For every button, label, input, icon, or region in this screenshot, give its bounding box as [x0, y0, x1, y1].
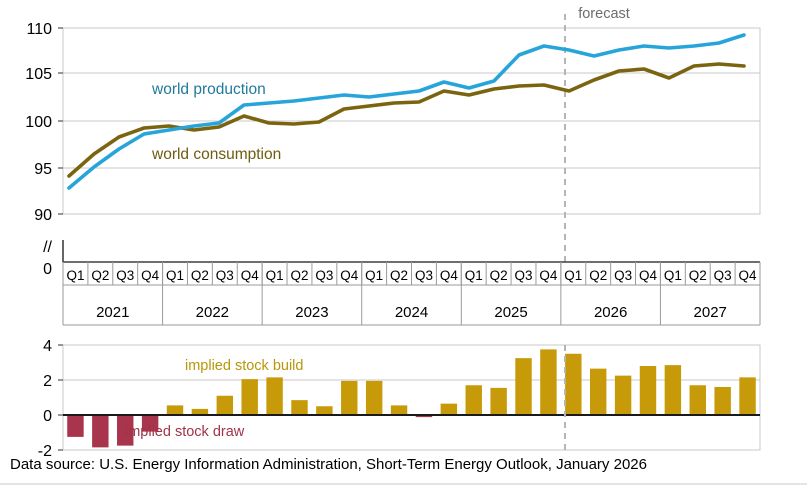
quarter-label: Q3	[116, 268, 134, 283]
quarter-label: Q2	[689, 268, 707, 283]
year-label: 2024	[395, 304, 428, 321]
ytick-label-105: 105	[25, 66, 52, 83]
stock-build-bar	[291, 400, 307, 415]
stock-build-bar	[341, 381, 357, 415]
quarter-label: Q4	[739, 268, 758, 283]
bottom-bar-chart: 4 2 0 -2 implied stock build implied sto…	[38, 338, 760, 460]
ytick-label-4: 4	[43, 338, 52, 355]
stock-build-bar	[241, 379, 257, 415]
year-label: 2022	[196, 304, 229, 321]
quarter-label: Q3	[614, 268, 632, 283]
consumption-series-label: world consumption	[151, 146, 281, 163]
ytick-label-0: 0	[43, 408, 52, 425]
quarter-label: Q1	[664, 268, 682, 283]
energy-balance-chart: 110 105 100 95 90 // 0 forecast world pr…	[0, 0, 807, 486]
quarter-label: Q1	[266, 268, 284, 283]
stock-build-bar	[515, 358, 531, 415]
quarter-label: Q4	[539, 268, 558, 283]
quarter-label: Q1	[166, 268, 184, 283]
quarter-label: Q4	[141, 268, 160, 283]
stock-draw-label: implied stock draw	[125, 424, 245, 440]
stock-build-bar	[640, 366, 656, 415]
forecast-label: forecast	[578, 6, 630, 22]
year-label: 2026	[594, 304, 627, 321]
top-line-chart: 110 105 100 95 90 // 0 forecast world pr…	[25, 6, 760, 278]
quarter-label: Q1	[365, 268, 383, 283]
stock-build-bar	[590, 369, 606, 415]
x-axis: Q1Q2Q3Q4Q1Q2Q3Q4Q1Q2Q3Q4Q1Q2Q3Q4Q1Q2Q3Q4…	[63, 262, 760, 325]
stock-build-bar	[665, 365, 681, 415]
quarter-label: Q3	[714, 268, 732, 283]
stock-build-bar	[266, 377, 282, 415]
world-production-line	[69, 35, 744, 188]
year-label: 2025	[494, 304, 527, 321]
stock-build-bar	[316, 406, 332, 415]
quarter-label: Q4	[241, 268, 260, 283]
stock-build-bar	[391, 405, 407, 415]
quarter-label: Q4	[639, 268, 658, 283]
stock-draw-bar	[67, 415, 83, 437]
quarter-label: Q2	[390, 268, 408, 283]
stock-build-bar	[167, 405, 183, 415]
quarter-label: Q3	[315, 268, 333, 283]
ytick-label-110: 110	[26, 21, 52, 38]
ytick-label-100: 100	[25, 114, 52, 131]
quarter-label: Q2	[191, 268, 209, 283]
quarter-label: Q2	[290, 268, 308, 283]
year-label: 2023	[295, 304, 328, 321]
stock-build-bar	[466, 385, 482, 415]
year-label: 2021	[96, 304, 129, 321]
quarter-label: Q1	[564, 268, 582, 283]
stock-build-bar	[714, 387, 730, 415]
axis-zero-label: 0	[43, 261, 52, 278]
quarter-label: Q2	[589, 268, 607, 283]
quarter-label: Q2	[91, 268, 109, 283]
stock-draw-bar	[92, 415, 108, 447]
stock-build-bar	[690, 385, 706, 415]
stock-build-bar	[441, 404, 457, 415]
axis-break-symbol: //	[43, 239, 52, 256]
ytick-label-95: 95	[34, 161, 52, 178]
source-note: Data source: U.S. Energy Information Adm…	[10, 456, 647, 473]
ytick-label-90: 90	[34, 207, 52, 224]
stock-build-bar	[540, 349, 556, 415]
stock-build-bar	[565, 354, 581, 415]
stock-build-bar	[217, 396, 233, 415]
production-series-label: world production	[151, 81, 266, 98]
quarter-label: Q4	[340, 268, 359, 283]
stock-build-bar	[490, 388, 506, 415]
quarter-label: Q2	[490, 268, 508, 283]
stock-build-label: implied stock build	[185, 358, 303, 374]
quarter-label: Q3	[515, 268, 533, 283]
year-label: 2027	[694, 304, 727, 321]
stock-build-bar	[739, 377, 755, 415]
quarter-label: Q3	[415, 268, 433, 283]
quarter-label: Q1	[66, 268, 84, 283]
quarter-label: Q3	[216, 268, 234, 283]
chart-page: 110 105 100 95 90 // 0 forecast world pr…	[0, 0, 807, 486]
stock-build-bar	[366, 381, 382, 415]
quarter-label: Q4	[440, 268, 459, 283]
ytick-label-2: 2	[43, 373, 52, 390]
stock-build-bar	[615, 376, 631, 415]
year-labels: 2021202220232024202520262027	[96, 304, 727, 321]
quarter-label: Q1	[465, 268, 483, 283]
